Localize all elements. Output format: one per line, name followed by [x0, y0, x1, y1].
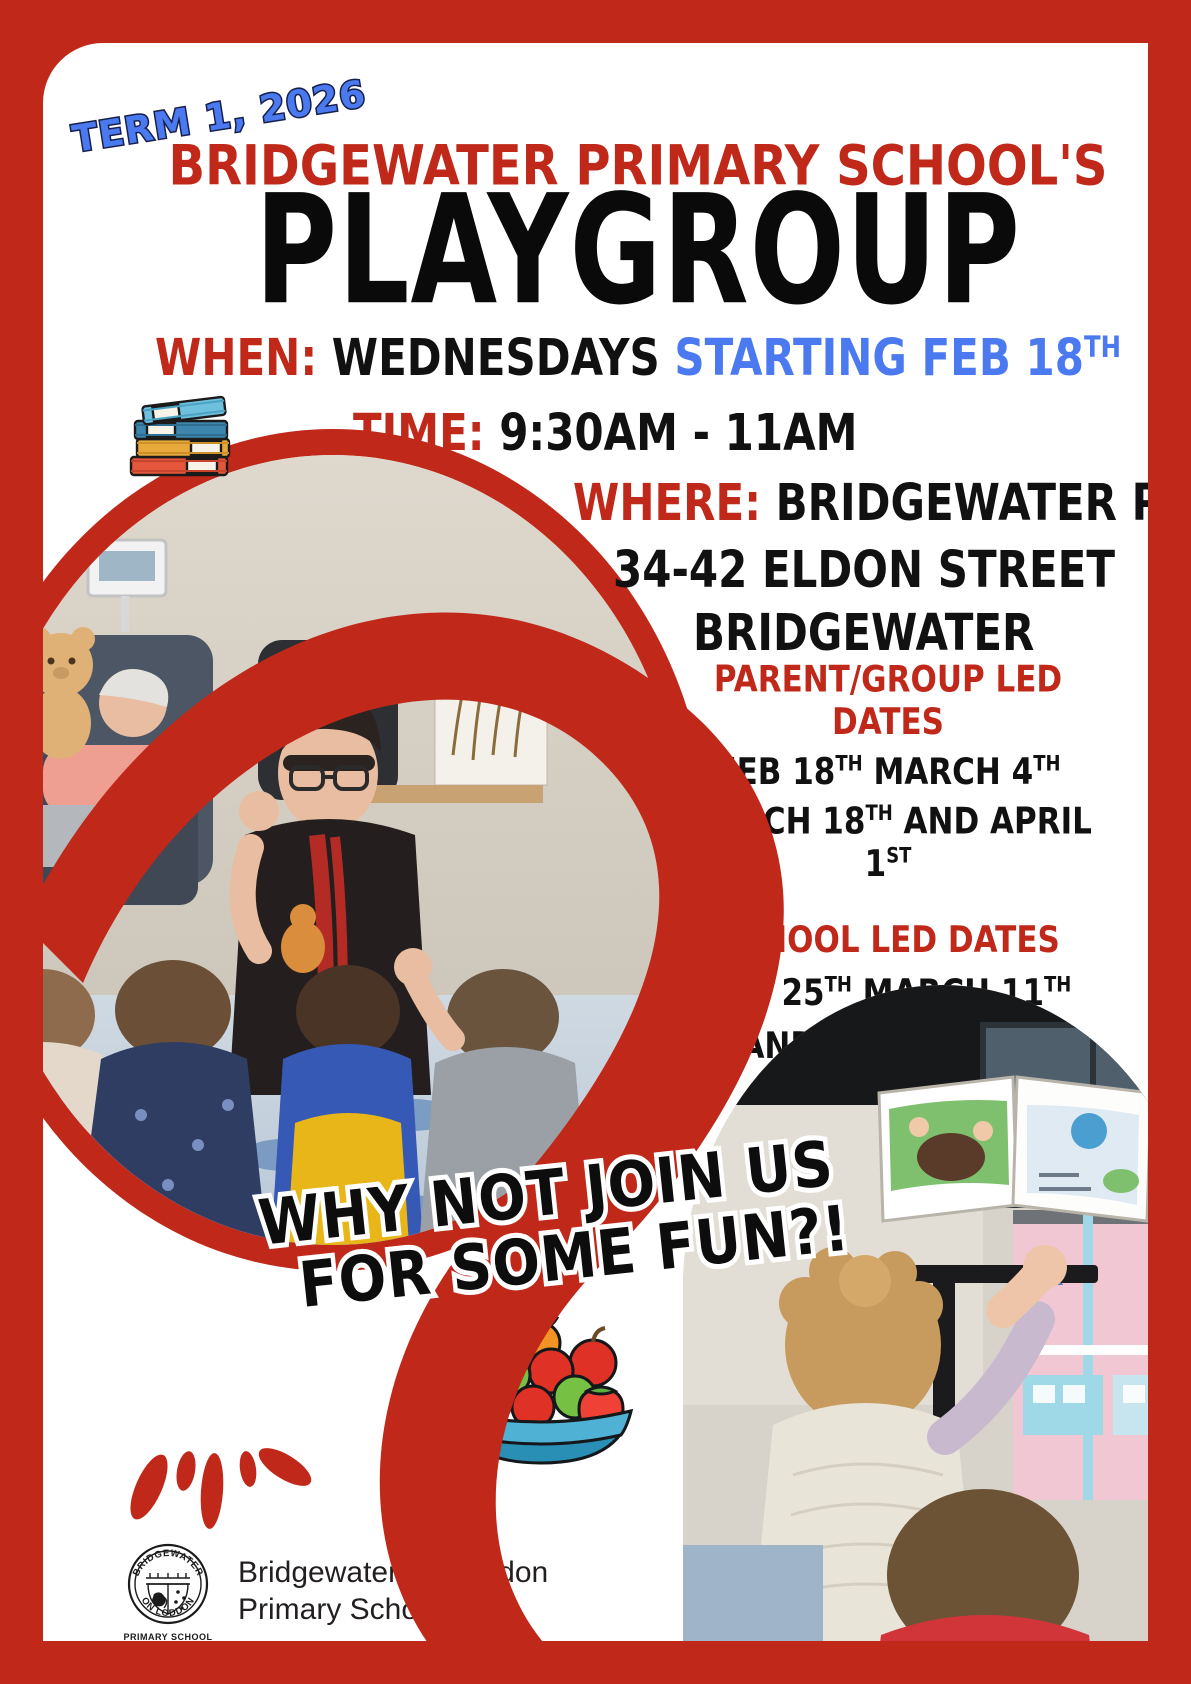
when-label: WHEN: — [155, 328, 317, 387]
when-starting: STARTING FEB 18 — [674, 328, 1084, 387]
footer-school-name: Bridgewater on Loddon Primary School — [238, 1555, 548, 1628]
parent-led-dates-row-1: FEB 18TH MARCH 4TH — [673, 751, 1103, 793]
school-crest-logo: BRIDGEWATER ON LODDON PRIMARY SCHOOL — [118, 1538, 218, 1641]
where-venue: BRIDGEWATER PS — [776, 473, 1148, 532]
when-starting-ordinal: TH — [1084, 329, 1121, 364]
time-value: 9:30AM - 11AM — [499, 403, 857, 462]
red-paint-strokes-icon — [121, 1447, 321, 1547]
where-line: WHERE: BRIDGEWATER PS — [573, 473, 1148, 532]
address-line-1: 34-42 ELDON STREET — [613, 540, 1115, 599]
school-led-dates-heading: SCHOOL LED DATES — [673, 919, 1103, 961]
when-line: WHEN: WEDNESDAYS STARTING FEB 18TH — [155, 328, 1121, 387]
poster-root: TERM 1, 2026 BRIDGEWATER PRIMARY SCHOOL'… — [0, 0, 1191, 1684]
footer-school-name-line-2: Primary School — [238, 1592, 548, 1629]
photo-book-reading — [683, 985, 1148, 1641]
photo-left-illustration — [43, 455, 683, 1245]
page-title: PLAYGROUP — [255, 163, 1021, 339]
time-label: TIME: — [353, 403, 485, 462]
stack-of-books-icon — [125, 395, 240, 480]
address-line-2: BRIDGEWATER — [693, 603, 1034, 662]
where-label: WHERE: — [573, 473, 761, 532]
footer-branding: BRIDGEWATER ON LODDON PRIMARY SCHOOL Bri… — [118, 1538, 548, 1641]
time-line: TIME: 9:30AM - 11AM — [353, 403, 857, 462]
poster-white-panel: TERM 1, 2026 BRIDGEWATER PRIMARY SCHOOL'… — [43, 43, 1148, 1641]
crest-caption: PRIMARY SCHOOL — [123, 1632, 212, 1641]
fruit-bowl-icon — [443, 1315, 638, 1465]
photo-playgroup-mat — [43, 455, 683, 1245]
footer-school-name-line-1: Bridgewater on Loddon — [238, 1555, 548, 1592]
when-day: WEDNESDAYS — [332, 328, 660, 387]
photo-right-illustration — [683, 985, 1148, 1641]
parent-led-dates-heading: PARENT/GROUP LED DATES — [673, 659, 1103, 744]
parent-led-dates-row-2: MARCH 18TH AND APRIL 1ST — [673, 801, 1103, 886]
